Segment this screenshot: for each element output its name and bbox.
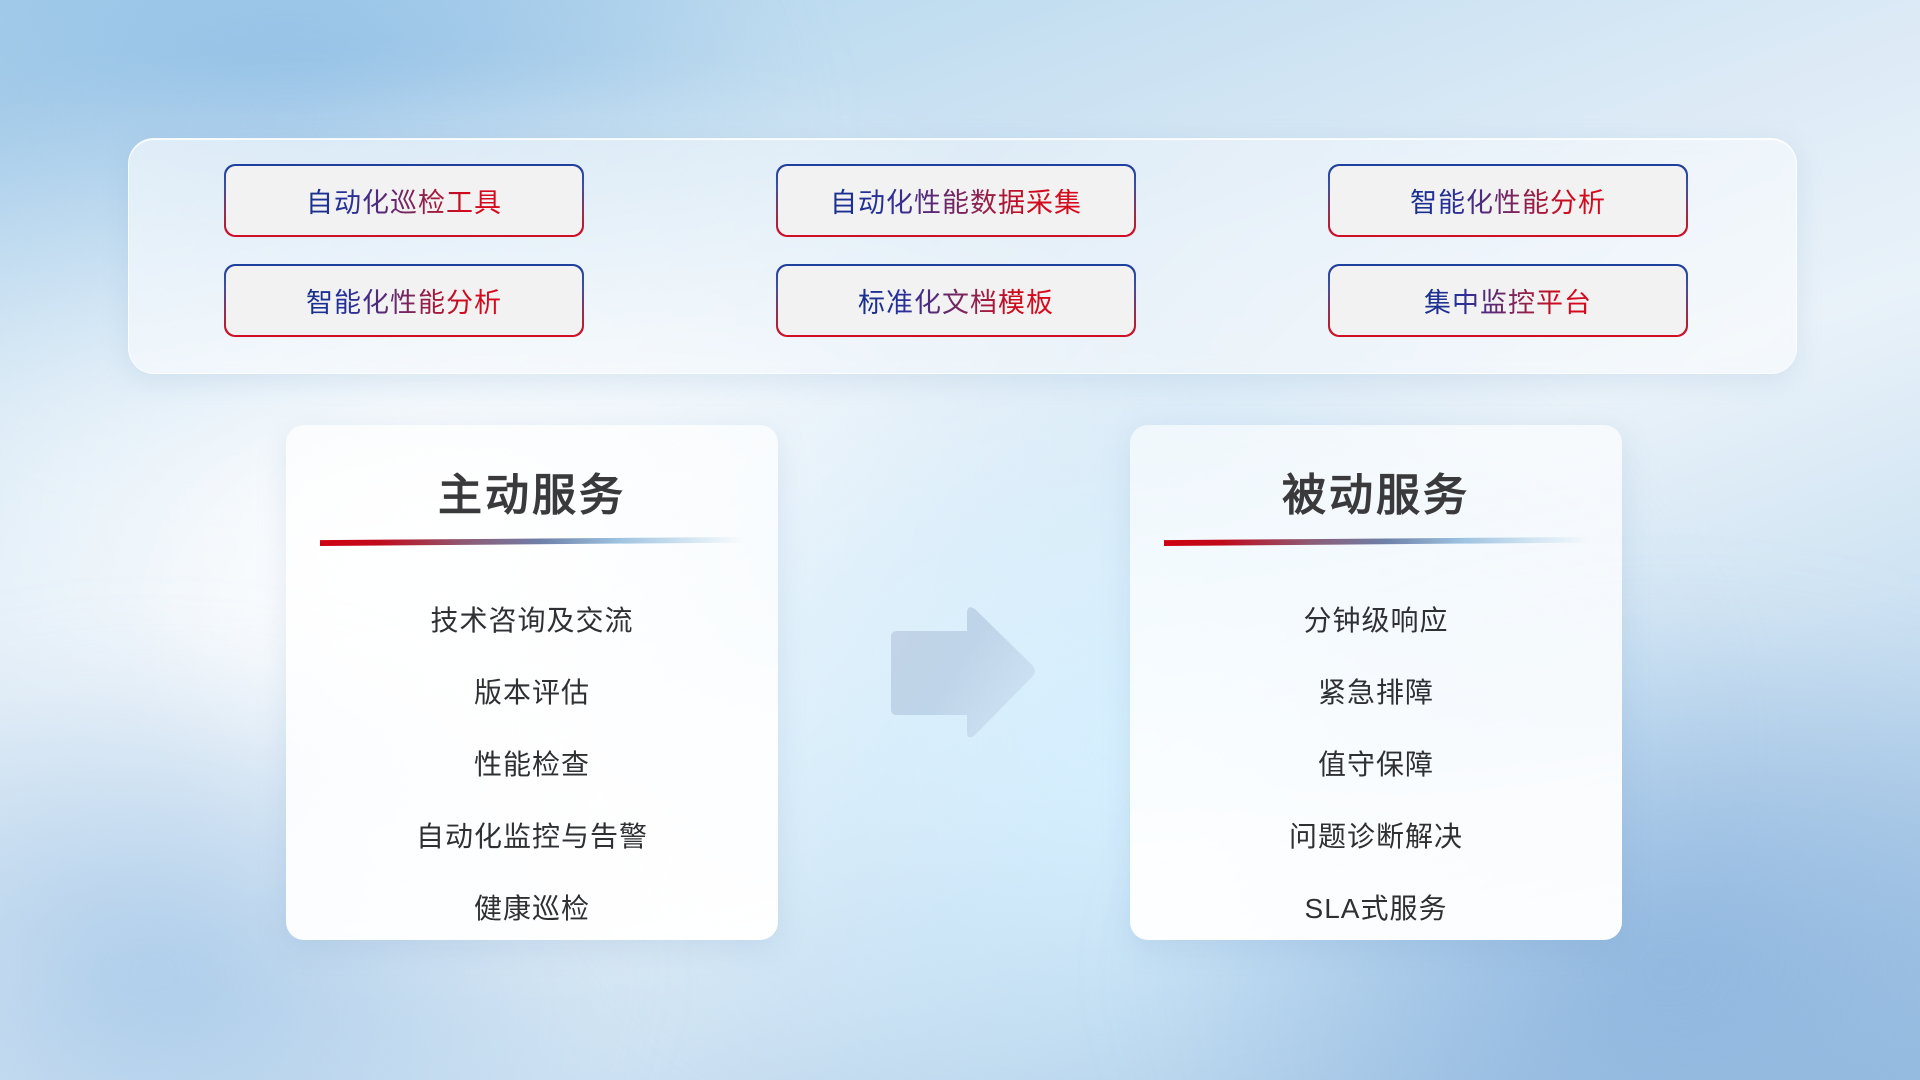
service-item-list: 技术咨询及交流版本评估性能检查自动化监控与告警健康巡检 <box>286 585 778 945</box>
service-card-title: 被动服务 <box>1130 459 1622 523</box>
arrow-right-icon <box>883 603 1037 743</box>
service-list-item: 性能检查 <box>286 729 778 801</box>
capability-pill[interactable]: 自动化性能数据采集 <box>778 166 1134 235</box>
capability-pill-grid: 自动化巡检工具自动化性能数据采集智能化性能分析智能化性能分析标准化文档模板集中监… <box>129 139 1796 373</box>
service-list-item: 版本评估 <box>286 657 778 729</box>
title-divider <box>1164 537 1588 546</box>
service-list-item: 问题诊断解决 <box>1130 801 1622 873</box>
capability-pill-label: 自动化巡检工具 <box>306 181 502 220</box>
capability-pill-label: 智能化性能分析 <box>306 281 502 320</box>
capability-pill-label: 智能化性能分析 <box>1410 181 1606 220</box>
service-list-item: 技术咨询及交流 <box>286 585 778 657</box>
capability-pill[interactable]: 自动化巡检工具 <box>226 166 582 235</box>
service-item-list: 分钟级响应紧急排障值守保障问题诊断解决SLA式服务 <box>1130 585 1622 945</box>
service-card-reactive[interactable]: 被动服务 分钟级响应紧急排障值守保障问题诊断解决SLA式服务 <box>1130 425 1622 940</box>
service-list-item: SLA式服务 <box>1130 873 1622 945</box>
capability-pill-label: 标准化文档模板 <box>858 281 1054 320</box>
capability-pill-label: 集中监控平台 <box>1424 281 1592 320</box>
service-list-item: 紧急排障 <box>1130 657 1622 729</box>
service-card-proactive[interactable]: 主动服务 技术咨询及交流版本评估性能检查自动化监控与告警健康巡检 <box>286 425 778 940</box>
capability-pill-label: 自动化性能数据采集 <box>830 181 1082 220</box>
service-list-item: 自动化监控与告警 <box>286 801 778 873</box>
title-divider <box>320 537 744 546</box>
service-card-title: 主动服务 <box>286 459 778 523</box>
service-list-item: 健康巡检 <box>286 873 778 945</box>
capability-pill[interactable]: 标准化文档模板 <box>778 266 1134 335</box>
service-list-item: 分钟级响应 <box>1130 585 1622 657</box>
capability-pill[interactable]: 集中监控平台 <box>1330 266 1686 335</box>
capability-pill[interactable]: 智能化性能分析 <box>1330 166 1686 235</box>
service-list-item: 值守保障 <box>1130 729 1622 801</box>
capability-panel: 自动化巡检工具自动化性能数据采集智能化性能分析智能化性能分析标准化文档模板集中监… <box>128 138 1797 374</box>
capability-pill[interactable]: 智能化性能分析 <box>226 266 582 335</box>
